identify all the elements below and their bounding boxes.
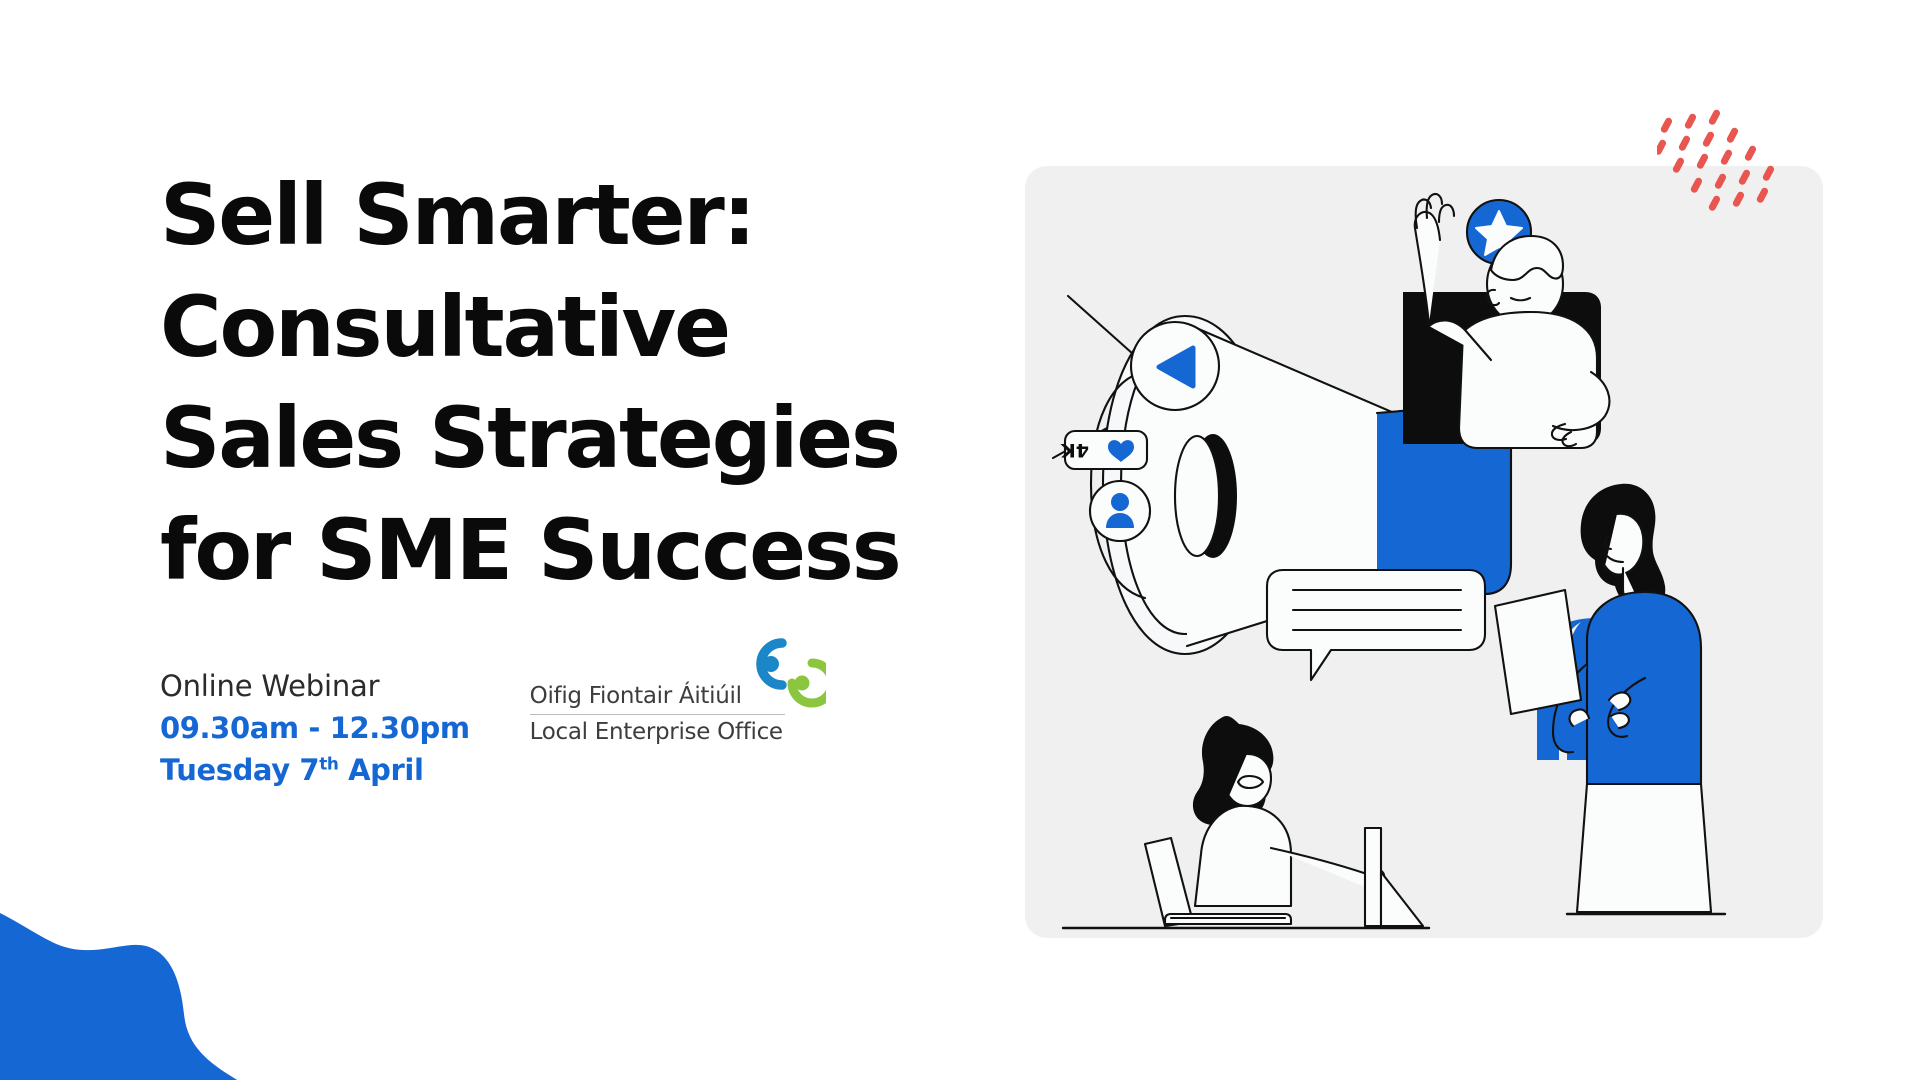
leo-interlocking-rings-logo-icon	[730, 631, 826, 716]
event-date-prefix: Tuesday 7	[160, 753, 319, 787]
text-column: Sell Smarter: Consultative Sales Strateg…	[160, 160, 960, 791]
event-detail-lines: Online Webinar 09.30am - 12.30pm Tuesday…	[160, 661, 470, 791]
leo-logo: Oifig Fiontair Áitiúil Local Enterprise …	[530, 661, 820, 745]
leo-logo-english-name: Local Enterprise Office	[530, 719, 820, 745]
seated-woman-at-laptop	[1063, 716, 1429, 928]
event-date-ordinal: th	[319, 753, 338, 773]
marketing-megaphone-team-illustration: 4K	[1025, 166, 1823, 938]
blue-organic-blob	[0, 880, 300, 1080]
user-avatar-badge	[1090, 481, 1150, 541]
likes-chip: 4K	[1060, 431, 1147, 469]
event-details: Online Webinar 09.30am - 12.30pm Tuesday…	[160, 661, 960, 791]
poster-canvas: Sell Smarter: Consultative Sales Strateg…	[0, 0, 1920, 1080]
standing-woman-with-document	[1495, 484, 1725, 914]
event-date-suffix: April	[338, 753, 423, 787]
event-time: 09.30am - 12.30pm	[160, 707, 470, 749]
play-button-badge	[1131, 322, 1219, 410]
likes-chip-label: 4K	[1060, 439, 1089, 461]
page-title: Sell Smarter: Consultative Sales Strateg…	[160, 160, 960, 607]
event-date: Tuesday 7th April	[160, 749, 470, 791]
event-format-label: Online Webinar	[160, 665, 470, 707]
illustration-panel: 4K	[1025, 166, 1823, 938]
speech-bubble	[1267, 570, 1485, 680]
